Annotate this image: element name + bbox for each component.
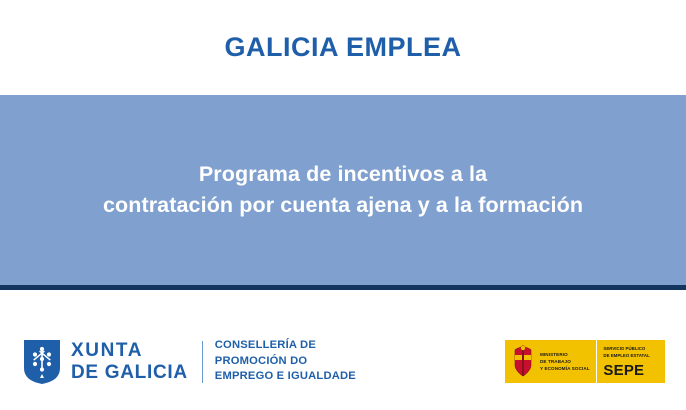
conselleria-block: CONSELLERÍA DE PROMOCIÓN DO EMPREGO E IG… xyxy=(215,338,356,384)
subtitle-line-2: contratación por cuenta ajena y a la for… xyxy=(23,190,663,221)
logo-separator xyxy=(202,341,203,383)
xunta-line-1: XUNTA xyxy=(71,341,188,360)
document-page: GALICIA EMPLEA Programa de incentivos a … xyxy=(0,0,686,410)
xunta-de-galicia-logo: XUNTA DE GALICIA CONSELLERÍA DE PROMOCIÓ… xyxy=(22,338,356,385)
xunta-wordmark: XUNTA DE GALICIA xyxy=(71,341,188,382)
subtitle-block: Programa de incentivos a la contratación… xyxy=(23,159,663,221)
xunta-shield-icon xyxy=(22,338,62,385)
title-area: GALICIA EMPLEA xyxy=(0,0,686,95)
subtitle-band: Programa de incentivos a la contratación… xyxy=(0,95,686,285)
spain-coat-of-arms-icon xyxy=(510,345,536,378)
gobierno-de-espana-logo: MINISTERIO DE TRABAJO Y ECONOMÍA SOCIAL … xyxy=(505,340,665,383)
sepe-description: SERVICIO PÚBLICO DE EMPLEO ESTATAL xyxy=(603,346,649,359)
ministerio-line-1: MINISTERIO xyxy=(540,351,590,358)
sepe-line-2: DE EMPLEO ESTATAL xyxy=(603,353,649,360)
sepe-line-1: SERVICIO PÚBLICO xyxy=(603,346,649,353)
ministerio-block: MINISTERIO DE TRABAJO Y ECONOMÍA SOCIAL xyxy=(505,340,596,383)
conselleria-line-1: CONSELLERÍA DE xyxy=(215,338,356,353)
subtitle-line-1: Programa de incentivos a la xyxy=(23,159,663,190)
ministerio-line-2: DE TRABAJO xyxy=(540,358,590,365)
ministerio-line-3: Y ECONOMÍA SOCIAL xyxy=(540,365,590,372)
xunta-line-2: DE GALICIA xyxy=(71,363,188,382)
conselleria-line-3: EMPREGO E IGUALDADE xyxy=(215,369,356,384)
conselleria-line-2: PROMOCIÓN DO xyxy=(215,354,356,369)
page-title: GALICIA EMPLEA xyxy=(224,33,461,63)
sepe-block: SERVICIO PÚBLICO DE EMPLEO ESTATAL SEPE xyxy=(596,340,665,383)
sepe-acronym: SEPE xyxy=(603,362,644,379)
ministerio-text: MINISTERIO DE TRABAJO Y ECONOMÍA SOCIAL xyxy=(540,351,590,372)
footer: XUNTA DE GALICIA CONSELLERÍA DE PROMOCIÓ… xyxy=(0,290,686,410)
